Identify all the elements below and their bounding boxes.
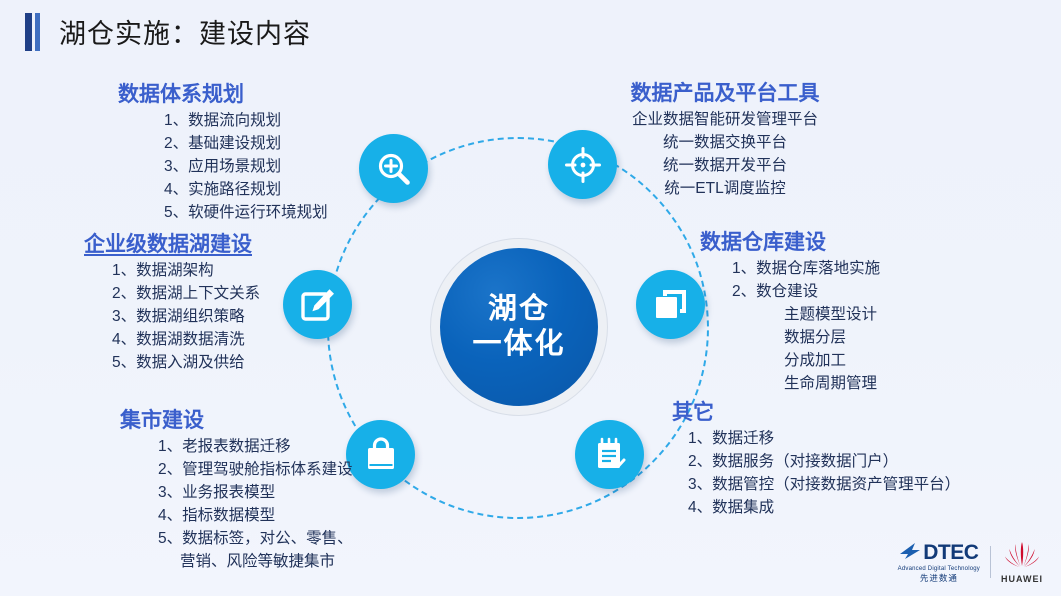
block-enterprise-data-lake: 企业级数据湖建设 1、数据湖架构 2、数据湖上下文关系 3、数据湖组织策略 4、… <box>84 232 260 375</box>
huawei-wordmark: HUAWEI <box>1001 575 1043 584</box>
edit-pencil-icon <box>299 286 337 324</box>
list-item: 统一数据开发平台 <box>600 155 850 178</box>
list-item: 4、指标数据模型 <box>158 505 353 528</box>
title-text: 湖仓实施：建设内容 <box>59 12 311 51</box>
dtec-tagline: Advanced Digital Technology <box>898 566 980 572</box>
list-item: 3、数据湖组织策略 <box>112 306 260 329</box>
node-others[interactable] <box>575 420 644 489</box>
list-item: 5、数据标签，对公、零售、 <box>158 528 353 551</box>
list-item: 5、软硬件运行环境规划 <box>164 202 328 225</box>
notepad-check-icon <box>591 436 629 474</box>
block-list: 1、数据流向规划 2、基础建设规划 3、应用场景规划 4、实施路径规划 5、软硬… <box>118 110 328 225</box>
list-item: 1、老报表数据迁移 <box>158 436 353 459</box>
block-heading: 其它 <box>672 400 960 426</box>
title-accent-bar-icon <box>25 13 41 51</box>
list-item: 3、数据管控（对接数据资产管理平台） <box>688 474 960 497</box>
block-heading: 集市建设 <box>120 408 353 434</box>
page-title: 湖仓实施：建设内容 <box>25 12 311 51</box>
block-list: 1、数据湖架构 2、数据湖上下文关系 3、数据湖组织策略 4、数据湖数据清洗 5… <box>84 260 260 375</box>
list-item: 2、数据服务（对接数据门户） <box>688 451 960 474</box>
node-data-warehouse[interactable] <box>636 270 705 339</box>
list-item: 2、管理驾驶舱指标体系建设 <box>158 459 353 482</box>
logo-divider <box>990 546 991 578</box>
list-item: 4、实施路径规划 <box>164 179 328 202</box>
crosshair-target-icon <box>563 145 603 185</box>
copy-layers-icon <box>652 286 690 324</box>
block-heading: 数据体系规划 <box>118 82 328 108</box>
dtec-logo-main: DTEC <box>899 542 978 564</box>
list-item: 1、数据迁移 <box>688 428 960 451</box>
dtec-arrow-icon <box>899 542 921 564</box>
list-item: 2、数仓建设 <box>732 281 880 304</box>
block-data-product-platform: 数据产品及平台工具 企业数据智能研发管理平台 统一数据交换平台 统一数据开发平台… <box>600 81 850 201</box>
block-list: 1、老报表数据迁移 2、管理驾驶舱指标体系建设 3、业务报表模型 4、指标数据模… <box>120 436 353 574</box>
magnifier-plus-icon <box>374 149 414 189</box>
list-item: 4、数据集成 <box>688 497 960 520</box>
list-item: 1、数据流向规划 <box>164 110 328 133</box>
dtec-wordmark: DTEC <box>923 542 978 563</box>
block-market-construction: 集市建设 1、老报表数据迁移 2、管理驾驶舱指标体系建设 3、业务报表模型 4、… <box>120 408 353 574</box>
core-line-1: 湖仓 <box>488 292 550 327</box>
list-item: 4、数据湖数据清洗 <box>112 329 260 352</box>
center-core-circle: 湖仓 一体化 <box>440 248 598 406</box>
list-item: 统一数据交换平台 <box>600 132 850 155</box>
list-item: 1、数据仓库落地实施 <box>732 258 880 281</box>
list-item: 2、基础建设规划 <box>164 133 328 156</box>
dtec-logo: DTEC Advanced Digital Technology 先进数通 <box>898 542 980 583</box>
block-others: 其它 1、数据迁移 2、数据服务（对接数据门户） 3、数据管控（对接数据资产管理… <box>672 400 960 520</box>
sub-list-item: 分成加工 <box>732 350 880 373</box>
block-list: 1、数据仓库落地实施 2、数仓建设 主题模型设计 数据分层 分成加工 生命周期管… <box>700 258 880 396</box>
dtec-chinese-name: 先进数通 <box>920 574 958 583</box>
node-market-construction[interactable] <box>346 420 415 489</box>
list-item-continuation: 营销、风险等敏捷集市 <box>158 551 353 574</box>
block-heading: 数据产品及平台工具 <box>600 81 850 107</box>
list-item: 5、数据入湖及供给 <box>112 352 260 375</box>
list-item: 3、应用场景规划 <box>164 156 328 179</box>
list-item: 3、业务报表模型 <box>158 482 353 505</box>
footer-logos: DTEC Advanced Digital Technology 先进数通 <box>898 540 1043 584</box>
list-item: 企业数据智能研发管理平台 <box>600 109 850 132</box>
sub-list-item: 主题模型设计 <box>732 304 880 327</box>
core-line-2: 一体化 <box>472 327 565 362</box>
block-heading: 企业级数据湖建设 <box>84 232 260 258</box>
block-data-system-planning: 数据体系规划 1、数据流向规划 2、基础建设规划 3、应用场景规划 4、实施路径… <box>118 82 328 225</box>
huawei-flower-icon <box>1002 540 1042 572</box>
huawei-logo: HUAWEI <box>1001 540 1043 584</box>
shopping-bag-icon <box>362 436 400 474</box>
sub-list-item: 生命周期管理 <box>732 373 880 396</box>
block-heading: 数据仓库建设 <box>700 230 880 256</box>
block-list: 企业数据智能研发管理平台 统一数据交换平台 统一数据开发平台 统一ETL调度监控 <box>600 109 850 201</box>
list-item: 2、数据湖上下文关系 <box>112 283 260 306</box>
block-data-warehouse: 数据仓库建设 1、数据仓库落地实施 2、数仓建设 主题模型设计 数据分层 分成加… <box>700 230 880 396</box>
slide-canvas: 湖仓实施：建设内容 湖仓 一体化 <box>0 0 1061 596</box>
node-data-system-planning[interactable] <box>359 134 428 203</box>
list-item: 统一ETL调度监控 <box>600 178 850 201</box>
sub-list-item: 数据分层 <box>732 327 880 350</box>
list-item: 1、数据湖架构 <box>112 260 260 283</box>
block-list: 1、数据迁移 2、数据服务（对接数据门户） 3、数据管控（对接数据资产管理平台）… <box>672 428 960 520</box>
node-enterprise-data-lake[interactable] <box>283 270 352 339</box>
